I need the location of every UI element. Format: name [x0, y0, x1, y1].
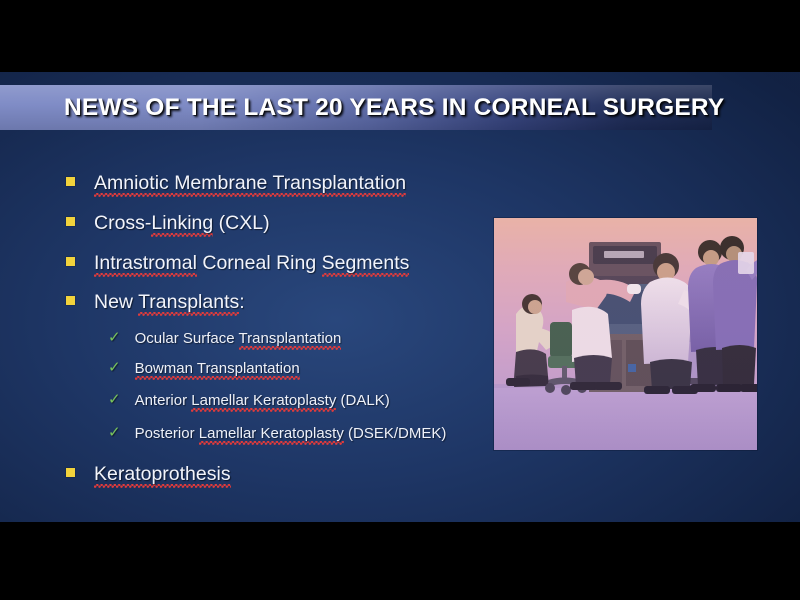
- check-bullet-icon: ✓: [108, 392, 121, 407]
- bullet-item: Keratoprothesis: [66, 463, 231, 486]
- page-title: NEWS OF THE LAST 20 YEARS IN CORNEAL SUR…: [64, 94, 724, 122]
- spellcheck-underlined-text: Amniotic Membrane Transplantation: [94, 172, 406, 197]
- bullet-text: Posterior Lamellar Keratoplasty (DSEK/DM…: [135, 425, 447, 442]
- spellcheck-underlined-text: Intrastromal: [94, 252, 197, 277]
- spellcheck-underlined-text: Linking: [151, 212, 213, 237]
- sub-bullet-item: ✓Bowman Transplantation: [108, 360, 300, 377]
- bullet-text: Intrastromal Corneal Ring Segments: [94, 252, 409, 275]
- bullet-text: Anterior Lamellar Keratoplasty (DALK): [135, 392, 390, 409]
- square-bullet-icon: [66, 177, 75, 186]
- spellcheck-underlined-text: Transplants: [138, 291, 239, 316]
- plain-text: New: [94, 291, 138, 313]
- sub-bullet-item: ✓Anterior Lamellar Keratoplasty (DALK): [108, 392, 390, 409]
- spellcheck-underlined-text: Lamellar Keratoplasty: [191, 392, 336, 412]
- sub-bullet-item: ✓Ocular Surface Transplantation: [108, 330, 341, 347]
- plain-text: Anterior: [135, 392, 192, 409]
- spellcheck-underlined-text: Lamellar Keratoplasty: [199, 425, 344, 445]
- plain-text: Posterior: [135, 425, 199, 442]
- bullet-text: Keratoprothesis: [94, 463, 231, 486]
- check-bullet-icon: ✓: [108, 330, 121, 345]
- presentation-slide: NEWS OF THE LAST 20 YEARS IN CORNEAL SUR…: [0, 72, 800, 522]
- plain-text: :: [239, 291, 244, 313]
- plain-text: Corneal Ring: [197, 252, 322, 274]
- check-bullet-icon: ✓: [108, 425, 121, 440]
- square-bullet-icon: [66, 296, 75, 305]
- slide-body: Amniotic Membrane TransplantationCross-L…: [0, 72, 800, 522]
- spellcheck-underlined-text: Segments: [322, 252, 410, 277]
- sub-bullet-item: ✓Posterior Lamellar Keratoplasty (DSEK/D…: [108, 425, 446, 442]
- plain-text: (DSEK/DMEK): [344, 425, 447, 442]
- bullet-text: Bowman Transplantation: [135, 360, 300, 377]
- square-bullet-icon: [66, 257, 75, 266]
- plain-text: (DALK): [336, 392, 389, 409]
- bullet-item: Amniotic Membrane Transplantation: [66, 172, 406, 195]
- bullet-text: Amniotic Membrane Transplantation: [94, 172, 406, 195]
- bullet-text: Cross-Linking (CXL): [94, 212, 270, 235]
- check-bullet-icon: ✓: [108, 360, 121, 375]
- letterbox-bottom: [0, 522, 800, 600]
- bullet-item: Intrastromal Corneal Ring Segments: [66, 252, 409, 275]
- plain-text: Cross-: [94, 212, 151, 234]
- bullet-item: New Transplants:: [66, 291, 245, 314]
- bullet-text: Ocular Surface Transplantation: [135, 330, 342, 347]
- letterbox-top: [0, 0, 800, 72]
- square-bullet-icon: [66, 217, 75, 226]
- spellcheck-underlined-text: Bowman Transplantation: [135, 360, 300, 380]
- bullet-item: Cross-Linking (CXL): [66, 212, 270, 235]
- square-bullet-icon: [66, 468, 75, 477]
- spellcheck-underlined-text: Keratoprothesis: [94, 463, 231, 488]
- screenshot-canvas: NEWS OF THE LAST 20 YEARS IN CORNEAL SUR…: [0, 0, 800, 600]
- bullet-text: New Transplants:: [94, 291, 245, 314]
- spellcheck-underlined-text: Transplantation: [239, 330, 342, 350]
- plain-text: Ocular Surface: [135, 330, 239, 347]
- plain-text: (CXL): [213, 212, 269, 234]
